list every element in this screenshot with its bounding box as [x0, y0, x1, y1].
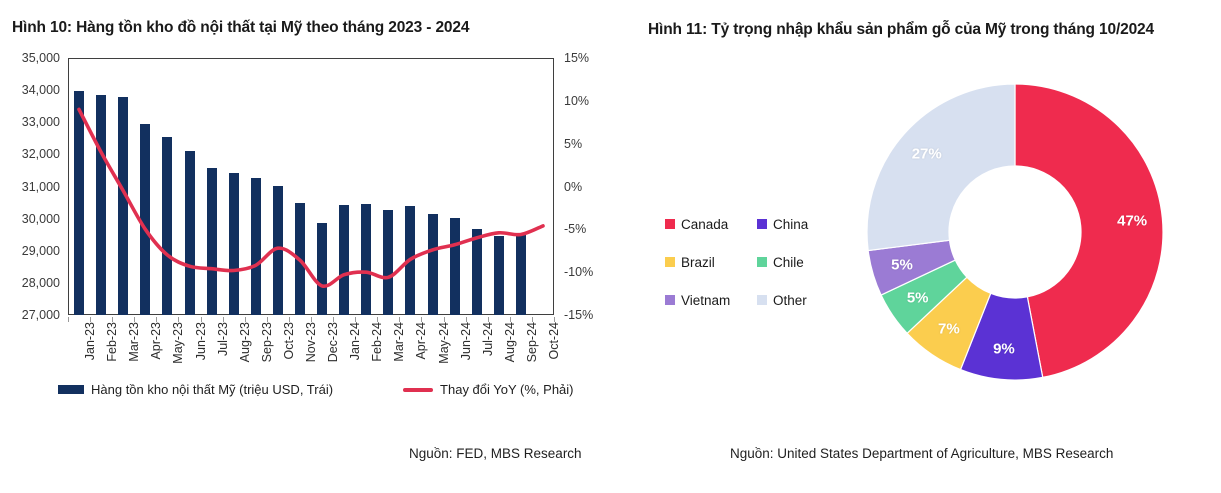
x-axis-label: May-24	[438, 322, 451, 364]
y-tick-left: 27,000	[22, 309, 60, 322]
figure-11-legend: CanadaChinaBrazilChileVietnamOther	[665, 205, 850, 319]
combo-chart: 27,00028,00029,00030,00031,00032,00033,0…	[0, 50, 640, 340]
x-axis-label: Jul-24	[482, 322, 495, 356]
x-axis-label: Dec-23	[327, 322, 340, 362]
bar-swatch-icon	[58, 385, 84, 394]
figure-10-panel: Hình 10: Hàng tồn kho đồ nội thất tại Mỹ…	[0, 0, 640, 493]
x-axis-label: Nov-23	[305, 322, 318, 362]
x-axis-label: Apr-24	[415, 322, 428, 360]
pie-legend-label: Vietnam	[681, 293, 730, 308]
donut-chart: 47%9%7%5%5%27%	[850, 60, 1180, 405]
pie-legend-swatch-icon	[757, 295, 767, 305]
donut-slice-label: 9%	[993, 341, 1015, 358]
pie-legend-swatch-icon	[665, 295, 675, 305]
y-tick-left: 34,000	[22, 84, 60, 97]
pie-legend-swatch-icon	[757, 219, 767, 229]
donut-slice-label: 5%	[907, 290, 929, 307]
pie-legend-label: Chile	[773, 255, 804, 270]
x-axis-label: Jun-24	[460, 322, 473, 360]
y-tick-left: 29,000	[22, 245, 60, 258]
x-axis-label: Mar-23	[128, 322, 141, 362]
x-axis-label: Jan-24	[349, 322, 362, 360]
y-tick-left: 31,000	[22, 181, 60, 194]
y-tick-right: -10%	[564, 266, 593, 279]
y-tick-left: 32,000	[22, 148, 60, 161]
x-axis-label: May-23	[172, 322, 185, 364]
yoy-line-svg	[68, 58, 554, 315]
x-axis-labels: Jan-23Feb-23Mar-23Apr-23May-23Jun-23Jul-…	[68, 322, 554, 382]
figure-11-panel: Hình 11: Tỷ trọng nhập khẩu sản phẩm gỗ …	[640, 0, 1221, 493]
pie-legend-item[interactable]: Vietnam	[665, 293, 757, 308]
donut-slice-label: 27%	[912, 146, 942, 163]
donut-slice-label: 47%	[1117, 212, 1147, 229]
figure-10-legend: Hàng tồn kho nội thất Mỹ (triệu USD, Trá…	[58, 382, 574, 397]
pie-legend-label: Canada	[681, 217, 728, 232]
pie-legend-swatch-icon	[757, 257, 767, 267]
x-axis-label: Jan-23	[84, 322, 97, 360]
pie-legend-label: Brazil	[681, 255, 715, 270]
x-axis-label: Oct-23	[283, 322, 296, 360]
y-tick-left: 35,000	[22, 52, 60, 65]
donut-slice-label: 5%	[891, 256, 913, 273]
y-tick-right: 5%	[564, 138, 582, 151]
figure-11-source: Nguồn: United States Department of Agric…	[730, 446, 1113, 461]
line-swatch-icon	[403, 388, 433, 392]
y-tick-left: 30,000	[22, 213, 60, 226]
line-series	[68, 58, 554, 315]
pie-legend-item[interactable]: Chile	[757, 255, 849, 270]
pie-legend-swatch-icon	[665, 219, 675, 229]
x-axis-label: Aug-24	[504, 322, 517, 362]
figure-10-source: Nguồn: FED, MBS Research	[409, 446, 582, 461]
x-axis-label: Sep-23	[261, 322, 274, 362]
pie-legend-swatch-icon	[665, 257, 675, 267]
y-tick-right: -5%	[564, 223, 586, 236]
x-axis-label: Oct-24	[548, 322, 561, 360]
legend-label-inventory: Hàng tồn kho nội thất Mỹ (triệu USD, Trá…	[91, 382, 333, 397]
figure-11-title: Hình 11: Tỷ trọng nhập khẩu sản phẩm gỗ …	[648, 21, 1154, 39]
x-axis-label: Mar-24	[393, 322, 406, 362]
figure-10-title: Hình 10: Hàng tồn kho đồ nội thất tại Mỹ…	[12, 19, 469, 37]
report-page: Hình 10: Hàng tồn kho đồ nội thất tại Mỹ…	[0, 0, 1221, 493]
y-tick-left: 28,000	[22, 277, 60, 290]
y-axis-right: -15%-10%-5%0%5%10%15%	[556, 58, 616, 315]
legend-label-yoy: Thay đổi YoY (%, Phải)	[440, 382, 573, 397]
pie-legend-item[interactable]: Brazil	[665, 255, 757, 270]
pie-legend-item[interactable]: Canada	[665, 217, 757, 232]
pie-legend-item[interactable]: China	[757, 217, 849, 232]
yoy-line-path	[79, 109, 543, 286]
donut-slice[interactable]	[1015, 84, 1163, 377]
x-axis-label: Jul-23	[217, 322, 230, 356]
x-axis-label: Sep-24	[526, 322, 539, 362]
y-tick-right: 15%	[564, 52, 589, 65]
pie-legend-label: Other	[773, 293, 807, 308]
donut-slice-label: 7%	[938, 321, 960, 338]
legend-item-inventory: Hàng tồn kho nội thất Mỹ (triệu USD, Trá…	[58, 382, 333, 397]
y-tick-right: 0%	[564, 181, 582, 194]
legend-item-yoy: Thay đổi YoY (%, Phải)	[403, 382, 573, 397]
pie-legend-item[interactable]: Other	[757, 293, 849, 308]
x-axis-label: Apr-23	[150, 322, 163, 360]
donut-slice[interactable]	[867, 84, 1015, 251]
y-tick-left: 33,000	[22, 116, 60, 129]
x-axis-label: Feb-23	[106, 322, 119, 362]
x-axis-label: Jun-23	[195, 322, 208, 360]
x-axis-label: Aug-23	[239, 322, 252, 362]
y-tick-right: 10%	[564, 95, 589, 108]
pie-legend-label: China	[773, 217, 808, 232]
y-tick-right: -15%	[564, 309, 593, 322]
y-axis-left: 27,00028,00029,00030,00031,00032,00033,0…	[0, 58, 66, 315]
x-axis-label: Feb-24	[371, 322, 384, 362]
